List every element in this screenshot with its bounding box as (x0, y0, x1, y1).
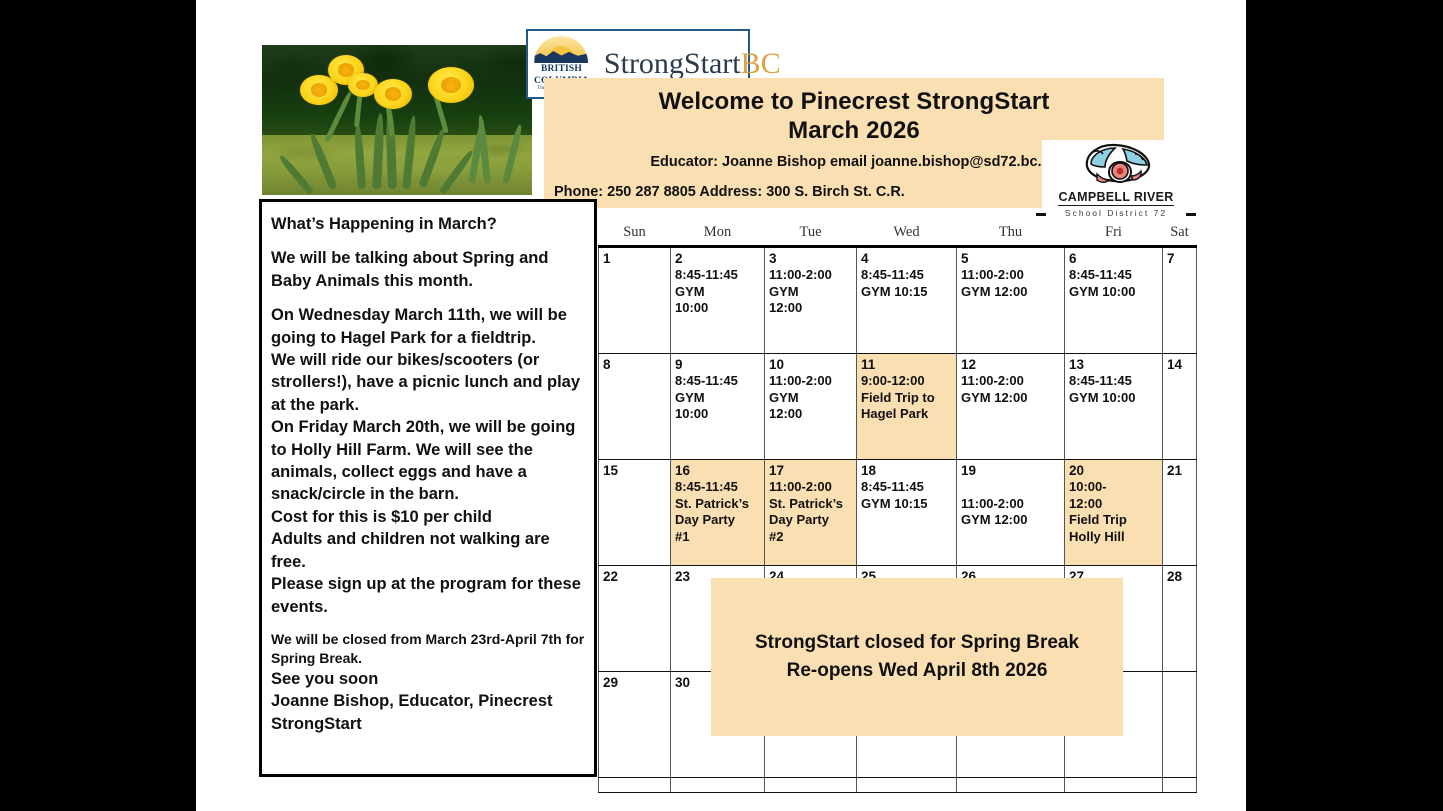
calendar-footer-cell (599, 778, 671, 793)
calendar-day-cell[interactable]: 21 (1163, 460, 1197, 566)
calendar-day-cell[interactable]: 98:45-11:45 GYM 10:00 (671, 354, 765, 460)
calendar-day-events: 8:45-11:45 St. Patrick’s Day Party #1 (675, 479, 762, 545)
calendar-footer-row (599, 778, 1197, 793)
calendar-day-cell[interactable]: 14 (1163, 354, 1197, 460)
calendar-day-cell[interactable]: 1711:00-2:00 St. Patrick’s Day Party #2 (765, 460, 857, 566)
info-heading: What’s Happening in March? (271, 213, 585, 235)
spring-break-text: StrongStart closed for Spring Break Re-o… (755, 629, 1079, 685)
strongstart-bc-suffix: BC (741, 47, 781, 80)
info-para-9: See you soon (271, 668, 585, 690)
banner-title: Welcome to Pinecrest StrongStart March 2… (544, 78, 1164, 145)
phone-address: Phone: 250 287 8805 Address: 300 S. Birc… (554, 184, 905, 200)
calendar-weekday-thu: Thu (957, 224, 1065, 247)
info-para-1: We will be talking about Spring and Baby… (271, 247, 585, 292)
info-para-3: We will ride our bikes/scooters (or stro… (271, 349, 585, 416)
info-para-2: On Wednesday March 11th, we will be goin… (271, 304, 585, 349)
calendar-day-number: 6 (1069, 251, 1160, 267)
calendar-day-number: 10 (769, 357, 854, 373)
calendar-day-number: 14 (1167, 357, 1194, 373)
info-para-7: Please sign up at the program for these … (271, 573, 585, 618)
calendar-day-number: 18 (861, 463, 954, 479)
calendar-week-row: 898:45-11:45 GYM 10:001011:00-2:00 GYM 1… (599, 354, 1197, 460)
cr-logo-name: CAMPBELL RIVER (1058, 190, 1173, 206)
calendar-day-cell[interactable]: 28:45-11:45 GYM 10:00 (671, 247, 765, 354)
calendar-footer-cell (1163, 778, 1197, 793)
calendar-day-events: 9:00-12:00 Field Trip to Hagel Park (861, 373, 954, 423)
info-spacer (271, 235, 585, 247)
info-para-4: On Friday March 20th, we will be going t… (271, 416, 585, 506)
calendar-day-number: 17 (769, 463, 854, 479)
calendar-day-cell[interactable]: 8 (599, 354, 671, 460)
campbell-river-sd72-logo: CAMPBELL RIVER School District 72 (1042, 140, 1190, 222)
calendar-day-cell[interactable]: 22 (599, 566, 671, 672)
calendar-day-number: 4 (861, 251, 954, 267)
calendar-day-cell[interactable]: 168:45-11:45 St. Patrick’s Day Party #1 (671, 460, 765, 566)
calendar-day-cell[interactable]: 311:00-2:00 GYM 12:00 (765, 247, 857, 354)
calendar-day-number: 8 (603, 357, 668, 373)
calendar-day-number: 1 (603, 251, 668, 267)
first-nations-salmon-icon (1079, 140, 1153, 188)
bc-logo-line1: BRITISH (541, 65, 582, 75)
calendar-day-cell[interactable]: 19 11:00-2:00 GYM 12:00 (957, 460, 1065, 566)
calendar-day-events: 11:00-2:00 GYM 12:00 (961, 373, 1062, 406)
calendar-day-number: 22 (603, 569, 668, 585)
calendar-day-number: 11 (861, 357, 954, 373)
calendar-footer-cell (857, 778, 957, 793)
calendar-day-cell[interactable]: 138:45-11:45 GYM 10:00 (1065, 354, 1163, 460)
calendar-day-cell[interactable]: 1211:00-2:00 GYM 12:00 (957, 354, 1065, 460)
calendar-weekday-wed: Wed (857, 224, 957, 247)
calendar-day-events: 11:00-2:00 St. Patrick’s Day Party #2 (769, 479, 854, 545)
strongstart-word: StrongStart (604, 47, 741, 80)
calendar-day-cell[interactable]: 2010:00- 12:00 Field Trip Holly Hill (1065, 460, 1163, 566)
calendar-day-cell[interactable]: 1 (599, 247, 671, 354)
info-para-6: Adults and children not walking are free… (271, 528, 585, 573)
calendar-day-number: 7 (1167, 251, 1194, 267)
strongstart-wordmark: StrongStartBC (604, 49, 781, 79)
cr-logo-subtitle: School District 72 (1042, 208, 1190, 218)
calendar-day-events: 11:00-2:00 GYM 12:00 (769, 267, 854, 317)
calendar-day-events: 11:00-2:00 GYM 12:00 (769, 373, 854, 423)
daffodil-bloom (428, 67, 474, 103)
calendar-day-events: 11:00-2:00 GYM 12:00 (961, 479, 1062, 529)
calendar-day-number: 2 (675, 251, 762, 267)
calendar-day-events: 8:45-11:45 GYM 10:15 (861, 479, 954, 512)
calendar-footer-cell (1065, 778, 1163, 793)
bc-mountain-icon (534, 48, 588, 63)
calendar-day-events: 8:45-11:45 GYM 10:00 (1069, 267, 1160, 300)
calendar-day-number: 29 (603, 675, 668, 691)
info-spacer (271, 292, 585, 304)
cr-rule-right (1186, 213, 1196, 216)
calendar-weekday-sun: Sun (599, 224, 671, 247)
spring-break-notice: StrongStart closed for Spring Break Re-o… (711, 578, 1123, 736)
calendar-day-cell[interactable] (1163, 672, 1197, 778)
whats-happening-box: What’s Happening in March? We will be ta… (259, 199, 597, 777)
calendar-weekday-mon: Mon (671, 224, 765, 247)
calendar-day-number: 20 (1069, 463, 1160, 479)
info-para-5: Cost for this is $10 per child (271, 506, 585, 528)
calendar-day-cell[interactable]: 48:45-11:45 GYM 10:15 (857, 247, 957, 354)
calendar-day-cell[interactable]: 119:00-12:00 Field Trip to Hagel Park (857, 354, 957, 460)
calendar-header-row: SunMonTueWedThuFriSat (599, 224, 1197, 247)
calendar-day-number: 3 (769, 251, 854, 267)
calendar-footer-cell (765, 778, 857, 793)
calendar-weekday-sat: Sat (1163, 224, 1197, 247)
bc-sun-icon (534, 36, 588, 63)
calendar-day-cell[interactable]: 511:00-2:00 GYM 12:00 (957, 247, 1065, 354)
calendar-day-number: 28 (1167, 569, 1194, 585)
calendar-day-cell[interactable]: 29 (599, 672, 671, 778)
calendar-day-number: 15 (603, 463, 668, 479)
calendar-day-number: 9 (675, 357, 762, 373)
calendar-day-cell[interactable]: 68:45-11:45 GYM 10:00 (1065, 247, 1163, 354)
calendar-day-events: 8:45-11:45 GYM 10:00 (1069, 373, 1160, 406)
banner-title-line1: Welcome to Pinecrest StrongStart (544, 87, 1164, 116)
info-spacer (271, 618, 585, 630)
calendar-day-cell[interactable]: 28 (1163, 566, 1197, 672)
calendar-week-row: 128:45-11:45 GYM 10:00311:00-2:00 GYM 12… (599, 247, 1197, 354)
calendar-day-number: 12 (961, 357, 1062, 373)
daffodil-bloom (374, 79, 412, 109)
calendar-week-row: 15168:45-11:45 St. Patrick’s Day Party #… (599, 460, 1197, 566)
calendar-footer-cell (671, 778, 765, 793)
calendar-weekday-fri: Fri (1065, 224, 1163, 247)
calendar-day-number: 16 (675, 463, 762, 479)
calendar-day-number: 5 (961, 251, 1062, 267)
calendar-day-cell[interactable]: 7 (1163, 247, 1197, 354)
calendar-day-number: 19 (961, 463, 1062, 479)
info-para-10: Joanne Bishop, Educator, Pinecrest Stron… (271, 690, 585, 735)
calendar-day-events: 8:45-11:45 GYM 10:00 (675, 373, 762, 423)
daffodil-photo (262, 45, 532, 195)
calendar-day-number: 13 (1069, 357, 1160, 373)
calendar-day-events: 8:45-11:45 GYM 10:00 (675, 267, 762, 317)
cr-rule-left (1036, 213, 1046, 216)
spring-break-line1: StrongStart closed for Spring Break (755, 629, 1079, 657)
calendar-day-cell[interactable]: 15 (599, 460, 671, 566)
salmon-svg-icon (1079, 140, 1153, 188)
calendar-day-events: 11:00-2:00 GYM 12:00 (961, 267, 1062, 300)
info-para-8: We will be closed from March 23rd-April … (271, 630, 585, 668)
slide-canvas: BRITISH COLUMBIA The Best Place on Earth… (196, 0, 1246, 811)
calendar-day-cell[interactable]: 1011:00-2:00 GYM 12:00 (765, 354, 857, 460)
calendar-day-events: 10:00- 12:00 Field Trip Holly Hill (1069, 479, 1160, 545)
calendar-weekday-tue: Tue (765, 224, 857, 247)
calendar-day-events: 8:45-11:45 GYM 10:15 (861, 267, 954, 300)
calendar-footer-cell (957, 778, 1065, 793)
spring-break-line2: Re-opens Wed April 8th 2026 (755, 657, 1079, 685)
calendar-day-number: 21 (1167, 463, 1194, 479)
calendar-day-cell[interactable]: 188:45-11:45 GYM 10:15 (857, 460, 957, 566)
